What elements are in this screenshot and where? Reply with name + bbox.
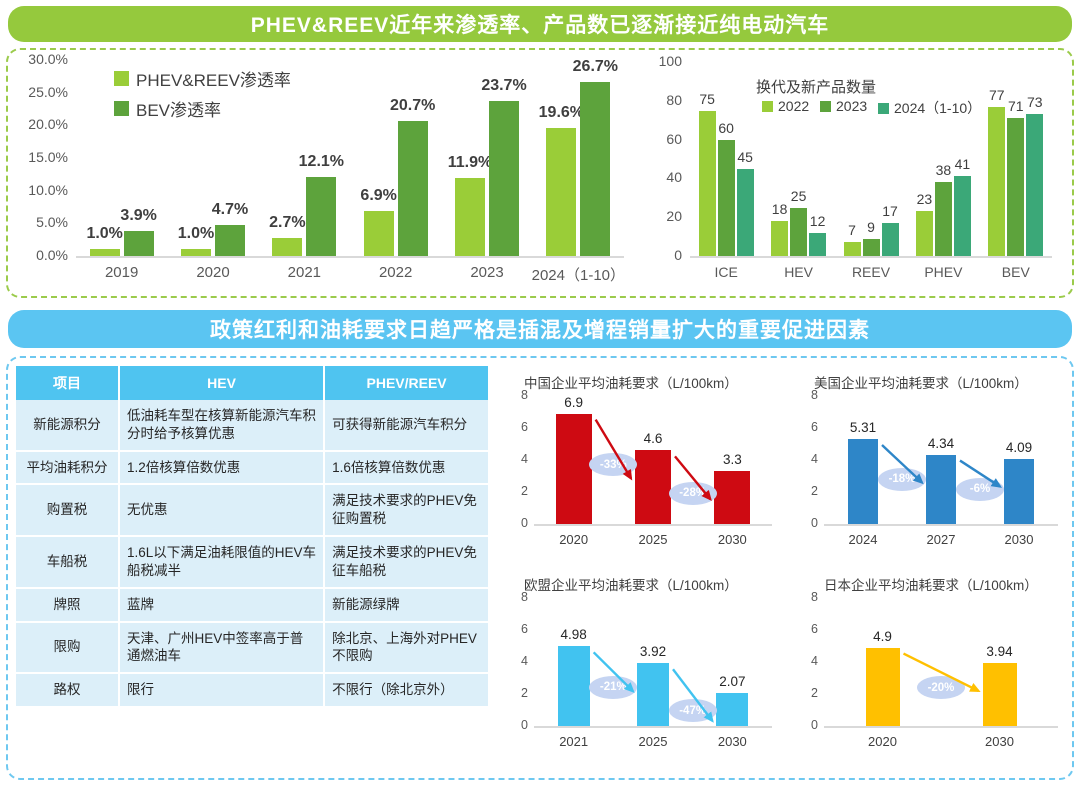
- table-row: 新能源积分低油耗车型在核算新能源汽车积分时给予核算优惠可获得新能源汽车积分: [16, 400, 488, 452]
- mini-jp-ytick: 2: [802, 686, 818, 700]
- table-cell-hev: 1.6L以下满足油耗限值的HEV车船税减半: [120, 537, 325, 589]
- chart1-legend-label: BEV渗透率: [136, 96, 221, 121]
- table-cell-phev: 不限行（除北京外）: [325, 674, 488, 706]
- mini-cn-bar: [635, 450, 671, 524]
- table-row: 路权限行不限行（除北京外）: [16, 674, 488, 706]
- chart2-legend-item: 2022: [762, 98, 809, 114]
- chart2-bar-label: 60: [709, 120, 743, 136]
- chart2-bar: [1026, 114, 1043, 256]
- table-header-row: 项目 HEV PHEV/REEV: [16, 366, 488, 400]
- mini-us-xtick: 2024: [833, 532, 893, 547]
- mini-eu-ytick: 6: [512, 622, 528, 636]
- mini-us-xtick: 2027: [911, 532, 971, 547]
- table-cell-phev: 满足技术要求的PHEV免征车船税: [325, 537, 488, 589]
- table-header-hev: HEV: [120, 366, 325, 400]
- chart2-legend-label: 2023: [836, 98, 867, 114]
- chart2-ytick: 0: [644, 247, 682, 263]
- mini-us-bar-label: 4.09: [994, 440, 1044, 455]
- chart1-xtick: 2024（1-10）: [518, 264, 638, 285]
- mini-eu-bar: [558, 646, 590, 726]
- mini-jp-ytick: 8: [802, 590, 818, 604]
- table-cell-item: 平均油耗积分: [16, 452, 120, 486]
- legend-swatch-icon: [114, 101, 129, 116]
- chart2-ytick: 40: [644, 169, 682, 185]
- mini-us-baseline: [824, 524, 1058, 526]
- mini-eu-bar-label: 3.92: [628, 644, 678, 659]
- chart2-bar: [1007, 118, 1024, 256]
- chart2-legend-item: 2023: [820, 98, 867, 114]
- mini-eu-baseline: [534, 726, 772, 728]
- mini-jp-xtick: 2020: [853, 734, 913, 749]
- table-cell-phev: 满足技术要求的PHEV免征购置税: [325, 485, 488, 537]
- chart1-ytick: 0.0%: [14, 247, 68, 263]
- mini-cn-bar-label: 6.9: [549, 395, 599, 410]
- mini-jp-bar-label: 4.9: [858, 629, 908, 644]
- chart2-bar-label: 12: [801, 213, 835, 229]
- chart2-bar-label: 25: [782, 188, 816, 204]
- mini-jp-ytick: 4: [802, 654, 818, 668]
- chart1-bar: [272, 238, 302, 256]
- chart1-bar: [398, 121, 428, 256]
- chart1-baseline: [76, 256, 624, 258]
- table-cell-hev: 无优惠: [120, 485, 325, 537]
- table-cell-item: 限购: [16, 623, 120, 675]
- mini-cn-ytick: 0: [512, 516, 528, 530]
- table-cell-hev: 天津、广州HEV中签率高于普通燃油车: [120, 623, 325, 675]
- chart1-bar-label: 4.7%: [198, 201, 262, 219]
- table-row: 购置税无优惠满足技术要求的PHEV免征购置税: [16, 485, 488, 537]
- mini-cn-ytick: 6: [512, 420, 528, 434]
- mini-eu-bar-label: 4.98: [549, 627, 599, 642]
- chart-product-count: 换代及新产品数量 020406080100 756045182512791723…: [644, 54, 1064, 292]
- chart2-ytick: 80: [644, 92, 682, 108]
- table-cell-phev: 可获得新能源汽车积分: [325, 400, 488, 452]
- table-cell-item: 路权: [16, 674, 120, 706]
- mini-cn-ytick: 8: [512, 388, 528, 402]
- table-cell-item: 购置税: [16, 485, 120, 537]
- chart2-bar: [809, 233, 826, 256]
- mini-jp-bar: [983, 663, 1017, 726]
- chart2-bar-label: 41: [945, 156, 979, 172]
- legend-swatch-icon: [820, 101, 831, 112]
- mini-us-change-badge: -18%: [878, 468, 926, 491]
- chart1-bar: [181, 249, 211, 256]
- mini-jp-xtick: 2030: [970, 734, 1030, 749]
- mini-cn-baseline: [534, 524, 772, 526]
- mini-eu-ytick: 0: [512, 718, 528, 732]
- chart1-bar: [306, 177, 336, 256]
- mini-eu-change-badge: -21%: [589, 676, 637, 699]
- chart2-bar-label: 17: [873, 203, 907, 219]
- chart2-bar: [771, 221, 788, 256]
- policy-comparison-table: 项目 HEV PHEV/REEV 新能源积分低油耗车型在核算新能源汽车积分时给予…: [16, 366, 488, 706]
- table-row: 限购天津、广州HEV中签率高于普通燃油车除北京、上海外对PHEV不限购: [16, 623, 488, 675]
- mini-us-ytick: 6: [802, 420, 818, 434]
- mini-us-bar-label: 4.34: [916, 436, 966, 451]
- mini-cn-xtick: 2025: [623, 532, 683, 547]
- chart-fuel-economy-china: 中国企业平均油耗要求（L/100km）024686.920204.620253.…: [500, 370, 788, 568]
- mini-cn-bar-label: 3.3: [707, 452, 757, 467]
- chart2-bar: [954, 176, 971, 256]
- mini-us-title: 美国企业平均油耗要求（L/100km）: [814, 372, 1028, 392]
- chart1-bar: [215, 225, 245, 256]
- mini-jp-bar-label: 3.94: [975, 644, 1025, 659]
- mini-us-bar: [1004, 459, 1034, 524]
- mini-cn-change-badge: -28%: [669, 482, 717, 505]
- chart2-bar: [988, 107, 1005, 256]
- chart1-bar-label: 26.7%: [563, 58, 627, 76]
- chart1-bar-label: 20.7%: [381, 97, 445, 115]
- mini-us-xtick: 2030: [989, 532, 1049, 547]
- section-title-bottom: 政策红利和油耗要求日趋严格是插混及增程销量扩大的重要促进因素: [8, 310, 1072, 348]
- mini-us-bar: [926, 455, 956, 524]
- chart2-legend-item: 2024（1-10）: [878, 98, 981, 118]
- mini-jp-ytick: 0: [802, 718, 818, 732]
- legend-swatch-icon: [878, 103, 889, 114]
- table-cell-item: 车船税: [16, 537, 120, 589]
- chart2-xtick: BEV: [971, 264, 1061, 280]
- chart1-ytick: 30.0%: [14, 51, 68, 67]
- chart1-bar: [124, 231, 154, 256]
- chart-fuel-economy-japan: 日本企业平均油耗要求（L/100km）024684.920203.942030-…: [790, 572, 1074, 772]
- mini-eu-bar: [637, 663, 669, 726]
- chart2-bar-label: 75: [690, 91, 724, 107]
- chart2-plot-area: 7560451825127917233841777173: [690, 62, 1052, 256]
- chart1-bar: [489, 101, 519, 256]
- chart1-legend-label: PHEV&REEV渗透率: [136, 66, 291, 91]
- mini-jp-baseline: [824, 726, 1058, 728]
- chart-fuel-economy-eu: 欧盟企业平均油耗要求（L/100km）024684.9820213.922025…: [500, 572, 788, 772]
- legend-swatch-icon: [114, 71, 129, 86]
- chart2-ytick: 100: [644, 53, 682, 69]
- mini-eu-ytick: 2: [512, 686, 528, 700]
- legend-swatch-icon: [762, 101, 773, 112]
- chart1-bar: [364, 211, 394, 256]
- mini-us-change-badge: -6%: [956, 478, 1004, 501]
- mini-us-bar-label: 5.31: [838, 420, 888, 435]
- table-cell-phev: 新能源绿牌: [325, 589, 488, 623]
- chart1-bar: [580, 82, 610, 256]
- chart1-bar: [455, 178, 485, 256]
- mini-eu-ytick: 8: [512, 590, 528, 604]
- section-title-top: PHEV&REEV近年来渗透率、产品数已逐渐接近纯电动汽车: [8, 6, 1072, 42]
- chart2-ytick: 20: [644, 208, 682, 224]
- chart2-bar: [916, 211, 933, 256]
- table-cell-phev: 1.6倍核算倍数优惠: [325, 452, 488, 486]
- mini-eu-bar-label: 2.07: [707, 674, 757, 689]
- chart2-bar: [844, 242, 861, 256]
- chart2-baseline: [690, 256, 1052, 258]
- chart2-bar: [737, 169, 754, 256]
- mini-eu-xtick: 2030: [702, 734, 762, 749]
- chart2-legend-label: 2024（1-10）: [894, 98, 981, 118]
- chart1-ytick: 20.0%: [14, 116, 68, 132]
- chart2-ytick: 60: [644, 131, 682, 147]
- chart-fuel-economy-usa: 美国企业平均油耗要求（L/100km）024685.3120244.342027…: [790, 370, 1074, 568]
- mini-eu-xtick: 2025: [623, 734, 683, 749]
- chart1-bar-label: 3.9%: [107, 207, 171, 225]
- table-cell-phev: 除北京、上海外对PHEV不限购: [325, 623, 488, 675]
- mini-us-bar: [848, 439, 878, 524]
- mini-cn-bar-label: 4.6: [628, 431, 678, 446]
- mini-cn-bar: [556, 414, 592, 524]
- mini-cn-ytick: 4: [512, 452, 528, 466]
- mini-cn-xtick: 2030: [702, 532, 762, 547]
- mini-cn-xtick: 2020: [544, 532, 604, 547]
- chart1-legend-item: BEV渗透率: [114, 96, 221, 121]
- mini-jp-change-badge: -20%: [917, 676, 965, 699]
- table-cell-item: 新能源积分: [16, 400, 120, 452]
- mini-eu-xtick: 2021: [544, 734, 604, 749]
- table-cell-hev: 蓝牌: [120, 589, 325, 623]
- chart1-ytick: 10.0%: [14, 182, 68, 198]
- table-cell-hev: 1.2倍核算倍数优惠: [120, 452, 325, 486]
- chart2-bar-label: 73: [1018, 94, 1052, 110]
- chart2-bar: [935, 182, 952, 256]
- mini-cn-change-badge: -33%: [589, 453, 637, 476]
- mini-eu-ytick: 4: [512, 654, 528, 668]
- mini-jp-arrows: [790, 572, 1074, 772]
- mini-us-ytick: 8: [802, 388, 818, 402]
- mini-jp-bar: [866, 648, 900, 726]
- chart2-bar: [882, 223, 899, 256]
- table-cell-item: 牌照: [16, 589, 120, 623]
- mini-eu-bar: [716, 693, 748, 726]
- mini-cn-bar: [714, 471, 750, 524]
- table-header-phev: PHEV/REEV: [325, 366, 488, 400]
- chart2-legend-label: 2022: [778, 98, 809, 114]
- mini-cn-title: 中国企业平均油耗要求（L/100km）: [524, 372, 738, 392]
- chart-penetration-rate: 0.0%5.0%10.0%15.0%20.0%25.0%30.0% 1.0%3.…: [14, 54, 634, 292]
- table-row: 牌照蓝牌新能源绿牌: [16, 589, 488, 623]
- table-cell-hev: 低油耗车型在核算新能源汽车积分时给予核算优惠: [120, 400, 325, 452]
- mini-jp-ytick: 6: [802, 622, 818, 636]
- chart1-ytick: 15.0%: [14, 149, 68, 165]
- table-header-item: 项目: [16, 366, 120, 400]
- chart1-bar: [90, 249, 120, 256]
- chart1-bar-label: 12.1%: [289, 153, 353, 171]
- mini-eu-change-badge: -47%: [669, 699, 717, 722]
- chart1-bar: [546, 128, 576, 256]
- mini-eu-title: 欧盟企业平均油耗要求（L/100km）: [524, 574, 738, 594]
- mini-us-ytick: 2: [802, 484, 818, 498]
- mini-us-ytick: 0: [802, 516, 818, 530]
- chart2-bar-label: 45: [728, 149, 762, 165]
- chart2-bar: [863, 239, 880, 256]
- chart1-legend-item: PHEV&REEV渗透率: [114, 66, 291, 91]
- mini-cn-ytick: 2: [512, 484, 528, 498]
- mini-us-ytick: 4: [802, 452, 818, 466]
- table-row: 车船税1.6L以下满足油耗限值的HEV车船税减半满足技术要求的PHEV免征车船税: [16, 537, 488, 589]
- chart1-bar-label: 23.7%: [472, 77, 536, 95]
- mini-jp-title: 日本企业平均油耗要求（L/100km）: [824, 574, 1038, 594]
- chart1-ytick: 25.0%: [14, 84, 68, 100]
- chart1-ytick: 5.0%: [14, 214, 68, 230]
- table-cell-hev: 限行: [120, 674, 325, 706]
- table-row: 平均油耗积分1.2倍核算倍数优惠1.6倍核算倍数优惠: [16, 452, 488, 486]
